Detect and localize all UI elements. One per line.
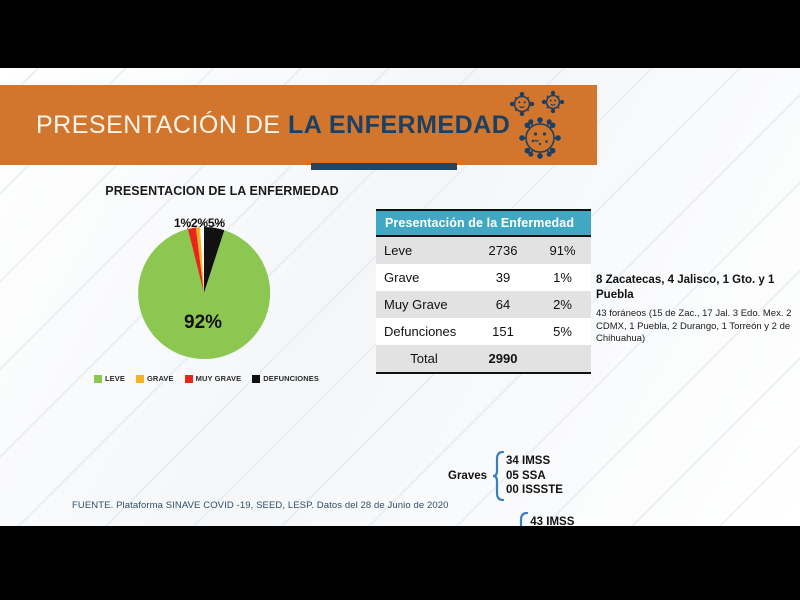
graves-item: 00 ISSSTE xyxy=(506,483,563,498)
row-pct-grave: 1% xyxy=(534,264,591,291)
muy-graves-list: 43 IMSS 19 SSA 02 ISSSTE xyxy=(530,515,587,526)
legend-swatch-defunciones xyxy=(252,375,260,383)
chart-title: PRESENTACION DE LA ENFERMEDAD xyxy=(62,184,382,198)
row-label-muy-grave: Muy Grave xyxy=(376,291,472,318)
muy-graves-item: 43 IMSS xyxy=(530,515,587,526)
row-pct-muy-grave: 2% xyxy=(534,291,591,318)
banner-title: PRESENTACIÓN DE LA ENFERMEDAD xyxy=(36,111,510,140)
row-count-grave: 39 xyxy=(472,264,534,291)
legend-swatch-muy-grave xyxy=(185,375,193,383)
banner-title-light: PRESENTACIÓN DE xyxy=(36,111,288,139)
legend-label-defunciones: DEFUNCIONES xyxy=(263,374,319,383)
pie-chart-legend: LEVE GRAVE MUY GRAVE DEFUNCIONES xyxy=(94,374,319,383)
legend-item-defunciones: DEFUNCIONES xyxy=(252,374,319,383)
pie-major-slice-label: 92% xyxy=(184,312,222,334)
banner-accent-bar xyxy=(311,163,457,170)
side-note-headline: 8 Zacatecas, 4 Jalisco, 1 Gto. y 1 Puebl… xyxy=(596,273,800,302)
legend-swatch-leve xyxy=(94,375,102,383)
row-label-total: Total xyxy=(376,345,472,373)
pie-chart-panel: PRESENTACION DE LA ENFERMEDAD xyxy=(62,184,382,384)
row-label-defunciones: Defunciones xyxy=(376,318,472,345)
table-row-total: Total 2990 xyxy=(376,345,591,373)
curly-bracket-icon xyxy=(492,451,504,501)
row-label-grave: Grave xyxy=(376,264,472,291)
pie-small-slice-labels: 1%2%5% xyxy=(174,216,225,230)
pie-slices xyxy=(138,227,270,359)
side-note-detail: 43 foráneos (15 de Zac., 17 Jal. 3 Edo. … xyxy=(596,308,800,345)
legend-item-leve: LEVE xyxy=(94,374,125,383)
legend-item-grave: GRAVE xyxy=(136,374,174,383)
row-label-leve: Leve xyxy=(376,236,472,264)
source-footer: FUENTE. Plataforma SINAVE COVID -19, SEE… xyxy=(72,500,449,511)
table-row: Grave 39 1% xyxy=(376,264,591,291)
row-count-total: 2990 xyxy=(472,345,534,373)
table-row: Muy Grave 64 2% xyxy=(376,291,591,318)
banner-title-bold: LA ENFERMEDAD xyxy=(288,111,510,139)
presentation-table: Presentación de la Enfermedad Leve 2736 … xyxy=(376,209,591,374)
legend-label-grave: GRAVE xyxy=(147,374,174,383)
graves-list: 34 IMSS 05 SSA 00 ISSSTE xyxy=(506,454,563,498)
graves-item: 05 SSA xyxy=(506,469,563,484)
muy-graves-breakdown: Muy graves 43 IMSS 19 SSA 02 ISSSTE xyxy=(448,512,587,526)
row-pct-defunciones: 5% xyxy=(534,318,591,345)
side-note-block: 8 Zacatecas, 4 Jalisco, 1 Gto. y 1 Puebl… xyxy=(596,273,800,345)
coronavirus-icon xyxy=(503,90,579,162)
graves-item: 34 IMSS xyxy=(506,454,563,469)
pie-chart-graphic: 1%2%5% 92% xyxy=(62,198,382,370)
row-count-defunciones: 151 xyxy=(472,318,534,345)
table-header-row: Presentación de la Enfermedad xyxy=(376,210,591,236)
table-header-title: Presentación de la Enfermedad xyxy=(376,210,591,236)
header-banner: PRESENTACIÓN DE LA ENFERMEDAD xyxy=(0,85,597,165)
curly-bracket-icon xyxy=(516,512,528,526)
row-count-leve: 2736 xyxy=(472,236,534,264)
row-pct-total xyxy=(534,345,591,373)
graves-breakdown: Graves 34 IMSS 05 SSA 00 ISSSTE xyxy=(448,451,563,501)
legend-label-leve: LEVE xyxy=(105,374,125,383)
legend-swatch-grave xyxy=(136,375,144,383)
table-row: Leve 2736 91% xyxy=(376,236,591,264)
slide-canvas: PRESENTACIÓN DE LA ENFERMEDAD xyxy=(0,68,800,526)
table-row: Defunciones 151 5% xyxy=(376,318,591,345)
screen: PRESENTACIÓN DE LA ENFERMEDAD xyxy=(0,0,800,600)
legend-label-muy-grave: MUY GRAVE xyxy=(196,374,242,383)
row-pct-leve: 91% xyxy=(534,236,591,264)
legend-item-muy-grave: MUY GRAVE xyxy=(185,374,242,383)
graves-label: Graves xyxy=(448,470,487,482)
row-count-muy-grave: 64 xyxy=(472,291,534,318)
